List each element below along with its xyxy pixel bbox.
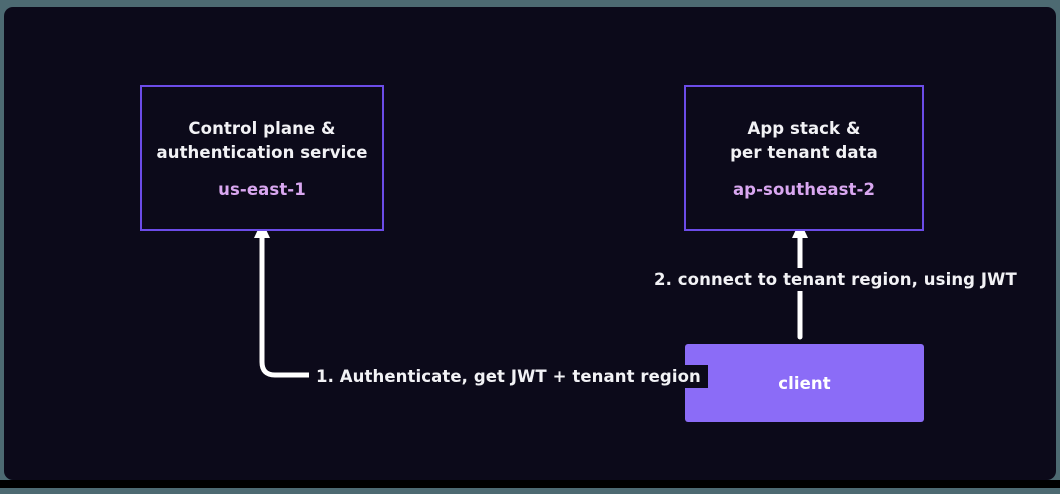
node-control-plane-title-line2: authentication service [156, 141, 367, 165]
edge-label-step2: 2. connect to tenant region, using JWT [647, 268, 1024, 291]
diagram-frame: Control plane & authentication service u… [0, 0, 1060, 494]
node-control-plane-region: us-east-1 [218, 180, 306, 199]
node-app-stack-title-line2: per tenant data [730, 141, 878, 165]
node-app-stack-title: App stack & per tenant data [730, 117, 878, 165]
node-app-stack-title-line1: App stack & [730, 117, 878, 141]
node-control-plane[interactable]: Control plane & authentication service u… [140, 85, 384, 231]
node-app-stack[interactable]: App stack & per tenant data ap-southeast… [684, 85, 924, 231]
node-client[interactable]: client [685, 344, 924, 422]
node-client-label: client [778, 374, 831, 393]
node-control-plane-title-line1: Control plane & [156, 117, 367, 141]
bottom-chrome-strip [0, 480, 1060, 488]
edge-label-step1: 1. Authenticate, get JWT + tenant region [309, 365, 708, 388]
node-control-plane-title: Control plane & authentication service [156, 117, 367, 165]
diagram-canvas: Control plane & authentication service u… [4, 7, 1056, 480]
node-app-stack-region: ap-southeast-2 [733, 180, 875, 199]
edge-step1-path [262, 234, 681, 375]
